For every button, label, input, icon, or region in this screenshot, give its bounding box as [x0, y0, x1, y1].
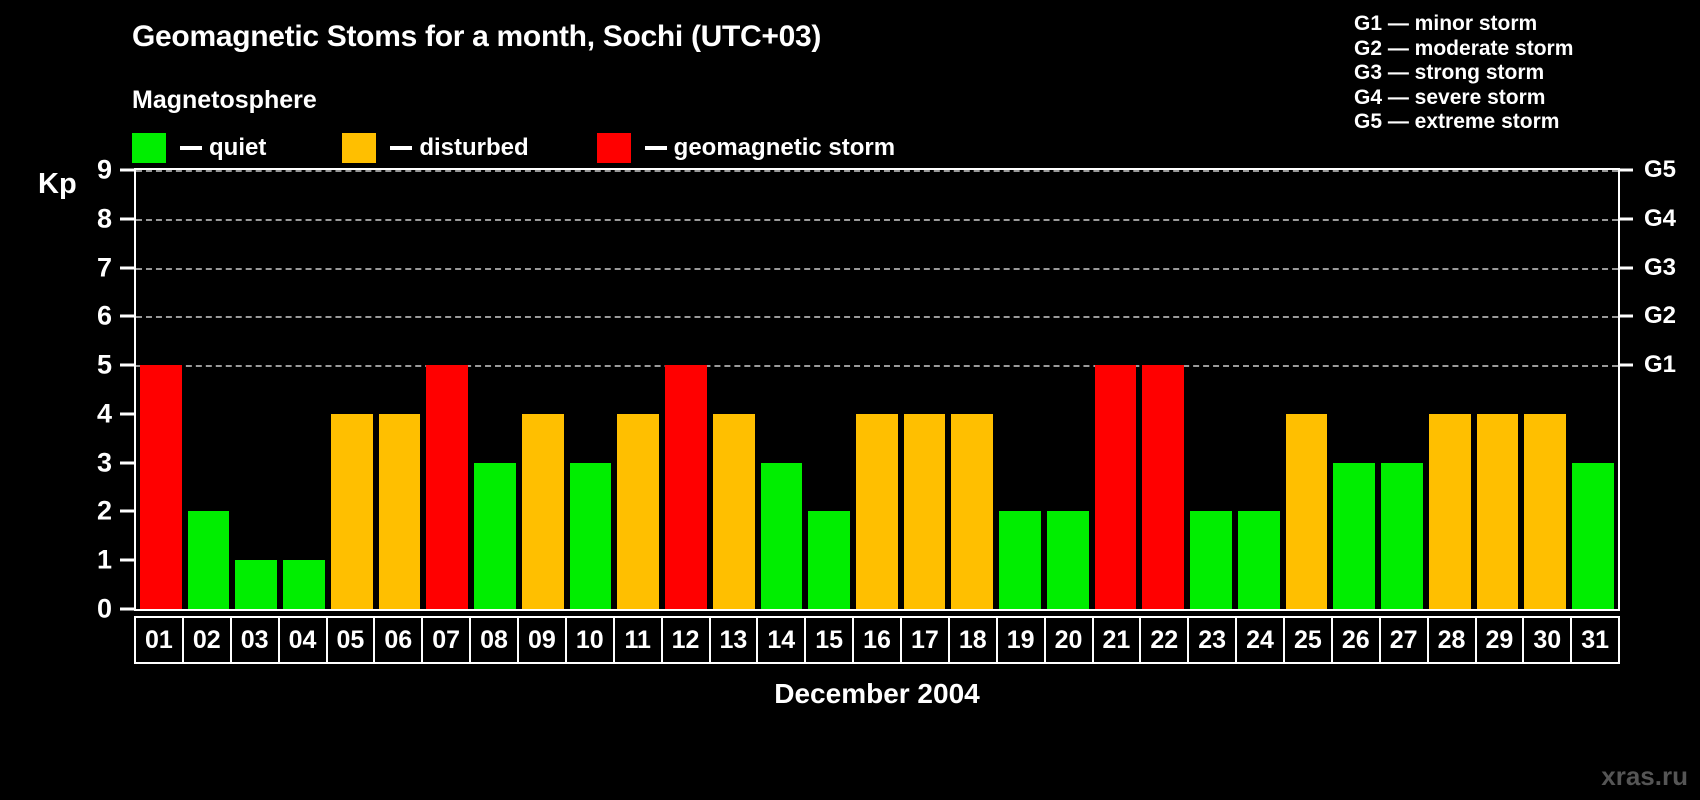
- y-tick-mark-6: [120, 315, 134, 318]
- g-tick-mark-g1: [1620, 364, 1633, 367]
- g-tick-mark-g4: [1620, 217, 1633, 220]
- legend-label-disturbed: disturbed: [419, 134, 528, 162]
- bar-day-09[interactable]: [522, 414, 564, 609]
- day-label-02[interactable]: 02: [184, 618, 232, 662]
- y-tick-label-6: 6: [97, 301, 112, 332]
- bar-day-14[interactable]: [761, 463, 803, 609]
- day-label-27[interactable]: 27: [1381, 618, 1429, 662]
- legend-item-storm: geomagnetic storm: [597, 133, 895, 163]
- magnetosphere-subtitle: Magnetosphere: [132, 86, 317, 115]
- bar-day-02[interactable]: [188, 511, 230, 609]
- x-axis-title: December 2004: [134, 678, 1620, 710]
- y-tick-mark-7: [120, 266, 134, 269]
- legend-dash-icon: [645, 146, 667, 150]
- bar-slot-day-06[interactable]: [376, 170, 424, 609]
- day-label-16[interactable]: 16: [854, 618, 902, 662]
- legend-swatch-quiet: [132, 133, 166, 163]
- legend-dash-icon: [180, 146, 202, 150]
- g-scale-legend-line-4: G4 — severe storm: [1354, 86, 1684, 111]
- day-label-04[interactable]: 04: [280, 618, 328, 662]
- bar-series: [136, 170, 1618, 609]
- day-label-20[interactable]: 20: [1046, 618, 1094, 662]
- bar-day-23[interactable]: [1190, 511, 1232, 609]
- bar-day-31[interactable]: [1572, 463, 1614, 609]
- y-tick-label-9: 9: [97, 155, 112, 186]
- day-label-09[interactable]: 09: [519, 618, 567, 662]
- day-label-05[interactable]: 05: [328, 618, 376, 662]
- bar-day-04[interactable]: [283, 560, 325, 609]
- legend-item-quiet: quiet: [132, 133, 266, 163]
- x-axis-day-labels: 0102030405060708091011121314151617181920…: [134, 616, 1620, 664]
- bar-slot-day-27[interactable]: [1378, 170, 1426, 609]
- day-label-24[interactable]: 24: [1237, 618, 1285, 662]
- day-label-11[interactable]: 11: [615, 618, 663, 662]
- day-label-29[interactable]: 29: [1477, 618, 1525, 662]
- y-tick-mark-4: [120, 412, 134, 415]
- day-label-21[interactable]: 21: [1094, 618, 1142, 662]
- day-label-03[interactable]: 03: [232, 618, 280, 662]
- bar-slot-day-25[interactable]: [1283, 170, 1331, 609]
- bar-slot-day-01[interactable]: [137, 170, 185, 609]
- bar-slot-day-14[interactable]: [758, 170, 806, 609]
- bar-day-13[interactable]: [713, 414, 755, 609]
- bar-day-19[interactable]: [999, 511, 1041, 609]
- day-label-01[interactable]: 01: [136, 618, 184, 662]
- day-label-06[interactable]: 06: [375, 618, 423, 662]
- bar-slot-day-16[interactable]: [853, 170, 901, 609]
- g-tick-label-g3: G3: [1644, 254, 1676, 282]
- g-scale-legend-line-1: G1 — minor storm: [1354, 12, 1684, 37]
- y-tick-mark-2: [120, 510, 134, 513]
- bar-day-20[interactable]: [1047, 511, 1089, 609]
- bar-slot-day-18[interactable]: [948, 170, 996, 609]
- bar-slot-day-30[interactable]: [1521, 170, 1569, 609]
- g-tick-mark-g3: [1620, 266, 1633, 269]
- plot-area: [134, 168, 1620, 611]
- bar-slot-day-22[interactable]: [1139, 170, 1187, 609]
- bar-slot-day-02[interactable]: [185, 170, 233, 609]
- g-tick-label-g1: G1: [1644, 351, 1676, 379]
- bar-slot-day-04[interactable]: [280, 170, 328, 609]
- y-tick-mark-0: [120, 608, 134, 611]
- bar-day-29[interactable]: [1477, 414, 1519, 609]
- bar-slot-day-29[interactable]: [1474, 170, 1522, 609]
- y-tick-label-3: 3: [97, 447, 112, 478]
- g-tick-label-g5: G5: [1644, 156, 1676, 184]
- bar-day-06[interactable]: [379, 414, 421, 609]
- day-label-31[interactable]: 31: [1572, 618, 1618, 662]
- g-scale-legend-line-2: G2 — moderate storm: [1354, 37, 1684, 62]
- day-label-14[interactable]: 14: [758, 618, 806, 662]
- y-tick-label-7: 7: [97, 252, 112, 283]
- day-label-18[interactable]: 18: [950, 618, 998, 662]
- bar-day-07[interactable]: [426, 365, 468, 609]
- bar-day-18[interactable]: [951, 414, 993, 609]
- bar-day-16[interactable]: [856, 414, 898, 609]
- y-tick-label-4: 4: [97, 398, 112, 429]
- g-scale-axis: G1G2G3G4G5: [1620, 168, 1700, 611]
- y-tick-mark-9: [120, 169, 134, 172]
- bar-day-17[interactable]: [904, 414, 946, 609]
- day-label-13[interactable]: 13: [711, 618, 759, 662]
- day-label-23[interactable]: 23: [1189, 618, 1237, 662]
- y-tick-label-5: 5: [97, 350, 112, 381]
- bar-slot-day-21[interactable]: [1092, 170, 1140, 609]
- day-label-26[interactable]: 26: [1333, 618, 1381, 662]
- y-tick-mark-1: [120, 559, 134, 562]
- y-tick-mark-5: [120, 364, 134, 367]
- day-label-10[interactable]: 10: [567, 618, 615, 662]
- bar-day-11[interactable]: [617, 414, 659, 609]
- y-tick-label-1: 1: [97, 545, 112, 576]
- bar-slot-day-24[interactable]: [1235, 170, 1283, 609]
- bar-slot-day-13[interactable]: [710, 170, 758, 609]
- g-tick-label-g2: G2: [1644, 302, 1676, 330]
- y-tick-label-8: 8: [97, 203, 112, 234]
- legend-dash-icon: [390, 146, 412, 150]
- geomagnetic-storm-chart: Geomagnetic Stoms for a month, Sochi (UT…: [0, 0, 1700, 800]
- bar-slot-day-03[interactable]: [232, 170, 280, 609]
- bar-day-26[interactable]: [1333, 463, 1375, 609]
- bar-day-28[interactable]: [1429, 414, 1471, 609]
- legend-label-quiet: quiet: [209, 134, 266, 162]
- bar-slot-day-31[interactable]: [1569, 170, 1617, 609]
- legend-item-disturbed: disturbed: [342, 133, 528, 163]
- bar-day-01[interactable]: [140, 365, 182, 609]
- bar-day-15[interactable]: [808, 511, 850, 609]
- legend-swatch-disturbed: [342, 133, 376, 163]
- bar-day-25[interactable]: [1286, 414, 1328, 609]
- bar-slot-day-28[interactable]: [1426, 170, 1474, 609]
- bar-day-03[interactable]: [235, 560, 277, 609]
- day-label-19[interactable]: 19: [998, 618, 1046, 662]
- bar-slot-day-15[interactable]: [805, 170, 853, 609]
- g-scale-legend-line-3: G3 — strong storm: [1354, 61, 1684, 86]
- bar-day-30[interactable]: [1524, 414, 1566, 609]
- bar-slot-day-23[interactable]: [1187, 170, 1235, 609]
- g-scale-legend-line-5: G5 — extreme storm: [1354, 110, 1684, 135]
- day-label-30[interactable]: 30: [1524, 618, 1572, 662]
- y-tick-mark-8: [120, 217, 134, 220]
- bar-slot-day-17[interactable]: [901, 170, 949, 609]
- y-tick-label-0: 0: [97, 594, 112, 625]
- day-label-12[interactable]: 12: [663, 618, 711, 662]
- legend-label-storm: geomagnetic storm: [674, 134, 895, 162]
- bar-slot-day-19[interactable]: [996, 170, 1044, 609]
- day-label-17[interactable]: 17: [902, 618, 950, 662]
- bar-day-10[interactable]: [570, 463, 612, 609]
- bar-day-21[interactable]: [1095, 365, 1137, 609]
- legend-swatch-storm: [597, 133, 631, 163]
- y-tick-mark-3: [120, 461, 134, 464]
- day-label-25[interactable]: 25: [1285, 618, 1333, 662]
- bar-day-12[interactable]: [665, 365, 707, 609]
- g-tick-label-g4: G4: [1644, 205, 1676, 233]
- bar-slot-day-11[interactable]: [614, 170, 662, 609]
- bar-day-27[interactable]: [1381, 463, 1423, 609]
- y-tick-label-2: 2: [97, 496, 112, 527]
- bar-slot-day-10[interactable]: [567, 170, 615, 609]
- g-tick-mark-g5: [1620, 169, 1633, 172]
- day-label-08[interactable]: 08: [471, 618, 519, 662]
- bar-slot-day-26[interactable]: [1330, 170, 1378, 609]
- bar-day-05[interactable]: [331, 414, 373, 609]
- bar-slot-day-05[interactable]: [328, 170, 376, 609]
- page-title: Geomagnetic Stoms for a month, Sochi (UT…: [132, 20, 821, 54]
- day-label-22[interactable]: 22: [1141, 618, 1189, 662]
- day-label-07[interactable]: 07: [423, 618, 471, 662]
- y-axis: 0123456789: [0, 168, 134, 611]
- watermark: xras.ru: [1601, 761, 1688, 792]
- bar-slot-day-08[interactable]: [471, 170, 519, 609]
- bar-day-08[interactable]: [474, 463, 516, 609]
- bar-day-22[interactable]: [1142, 365, 1184, 609]
- bar-day-24[interactable]: [1238, 511, 1280, 609]
- day-label-15[interactable]: 15: [806, 618, 854, 662]
- bar-slot-day-12[interactable]: [662, 170, 710, 609]
- bar-slot-day-20[interactable]: [1044, 170, 1092, 609]
- bar-slot-day-07[interactable]: [423, 170, 471, 609]
- day-label-28[interactable]: 28: [1429, 618, 1477, 662]
- g-scale-legend: G1 — minor stormG2 — moderate stormG3 — …: [1354, 12, 1684, 135]
- g-tick-mark-g2: [1620, 315, 1633, 318]
- bar-slot-day-09[interactable]: [519, 170, 567, 609]
- color-legend: quietdisturbedgeomagnetic storm: [132, 133, 895, 163]
